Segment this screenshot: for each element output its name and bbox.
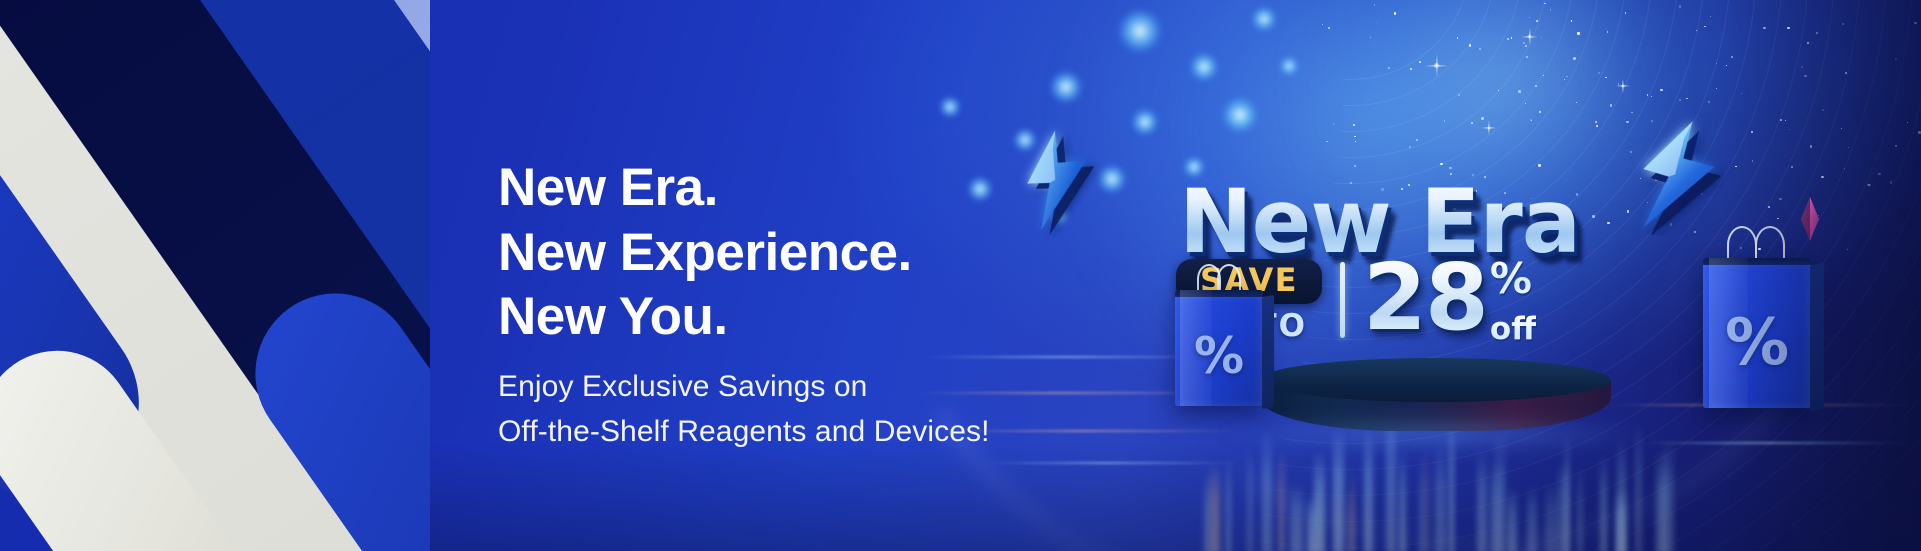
star bbox=[1804, 75, 1806, 77]
bag-percent-symbol: % bbox=[1703, 306, 1811, 380]
star bbox=[1394, 12, 1397, 15]
star bbox=[1625, 12, 1627, 14]
shopping-bag-icon: % bbox=[1175, 290, 1263, 406]
star bbox=[1867, 184, 1869, 186]
star-sparkle bbox=[1527, 34, 1532, 39]
percent-symbol: % bbox=[1490, 258, 1532, 300]
promo-artwork-stage: New Era % bbox=[921, 0, 1921, 551]
star bbox=[1821, 176, 1824, 179]
star bbox=[1536, 20, 1538, 22]
promotional-banner: New Era % bbox=[0, 0, 1921, 551]
star bbox=[1550, 9, 1551, 10]
bokeh-orb bbox=[1279, 56, 1299, 76]
light-ray bbox=[1226, 456, 1231, 551]
star bbox=[1573, 57, 1576, 60]
star bbox=[1353, 124, 1355, 126]
star bbox=[1791, 166, 1793, 168]
star bbox=[1845, 72, 1847, 74]
light-ray bbox=[1545, 482, 1559, 551]
bokeh-orb bbox=[1251, 6, 1277, 32]
star bbox=[1354, 136, 1356, 138]
diamond-sparkle-icon bbox=[1793, 196, 1827, 242]
discount-group: 28 % off bbox=[1363, 258, 1536, 345]
star bbox=[1328, 27, 1330, 29]
star bbox=[1696, 30, 1697, 31]
percent-off-group: % off bbox=[1490, 258, 1536, 345]
star bbox=[1529, 17, 1530, 18]
headline-line-2: New Experience. bbox=[498, 221, 990, 286]
star bbox=[1419, 61, 1421, 63]
podium-top bbox=[1259, 358, 1611, 402]
star bbox=[1610, 104, 1613, 107]
star bbox=[1564, 79, 1565, 80]
star bbox=[1518, 90, 1521, 93]
star bbox=[1708, 101, 1710, 103]
podium-glow bbox=[1219, 414, 1649, 454]
light-ray bbox=[1350, 468, 1355, 551]
star bbox=[1458, 94, 1460, 96]
star bbox=[1326, 141, 1328, 143]
star bbox=[1914, 22, 1916, 24]
star bbox=[1377, 22, 1378, 23]
light-ray bbox=[1423, 445, 1430, 551]
star bbox=[1777, 218, 1778, 219]
bag-side-panel bbox=[1810, 263, 1824, 412]
shopping-bag-icon: % bbox=[1703, 258, 1811, 408]
light-ray bbox=[1477, 450, 1487, 551]
bokeh-orb bbox=[1221, 96, 1259, 134]
star bbox=[1842, 23, 1844, 25]
banner-copy: New Era. New Experience. New You. Enjoy … bbox=[498, 156, 990, 453]
star bbox=[1787, 27, 1790, 30]
star bbox=[1752, 160, 1754, 162]
light-ray bbox=[1663, 438, 1674, 551]
star bbox=[1679, 5, 1682, 8]
light-ray bbox=[1209, 463, 1220, 551]
star bbox=[1440, 163, 1442, 165]
star bbox=[1710, 16, 1711, 17]
star bbox=[1716, 63, 1717, 64]
star bbox=[1481, 117, 1483, 119]
bag-body: % bbox=[1175, 290, 1263, 406]
star bbox=[1535, 85, 1537, 87]
star bbox=[1780, 119, 1782, 121]
off-label: off bbox=[1490, 314, 1536, 345]
star bbox=[1751, 131, 1753, 133]
star bbox=[1355, 141, 1356, 142]
star bbox=[1577, 32, 1579, 34]
bokeh-orb bbox=[1189, 52, 1219, 82]
star bbox=[1686, 98, 1688, 100]
light-ray bbox=[1435, 442, 1446, 551]
star bbox=[1895, 145, 1897, 147]
headline-line-3: New You. bbox=[498, 285, 990, 350]
star bbox=[1498, 90, 1499, 91]
star bbox=[1841, 128, 1842, 129]
star bbox=[1596, 125, 1598, 127]
headline-line-1: New Era. bbox=[498, 156, 990, 221]
discount-value: 28 bbox=[1363, 258, 1487, 337]
light-ray bbox=[1577, 466, 1582, 551]
bag-side-panel bbox=[1262, 295, 1274, 409]
light-ray bbox=[1527, 486, 1537, 551]
left-geometric-decoration bbox=[0, 0, 430, 551]
star bbox=[1333, 123, 1334, 124]
light-ray bbox=[1247, 446, 1253, 551]
podium-icon bbox=[1259, 358, 1611, 444]
light-ray bbox=[1600, 454, 1607, 551]
subcopy-line-1: Enjoy Exclusive Savings on bbox=[498, 366, 990, 409]
light-ray bbox=[1507, 487, 1517, 551]
star bbox=[1847, 249, 1848, 250]
star bbox=[1878, 173, 1880, 175]
lightning-bolt-icon bbox=[1613, 105, 1745, 246]
bokeh-orb bbox=[1117, 8, 1163, 54]
star bbox=[1370, 37, 1371, 38]
star-sparkle bbox=[1433, 62, 1440, 69]
star bbox=[1890, 181, 1893, 184]
light-ray bbox=[1617, 439, 1626, 551]
star bbox=[1539, 111, 1541, 113]
bokeh-orb bbox=[1131, 108, 1159, 136]
subcopy-line-2: Off-the-Shelf Reagents and Devices! bbox=[498, 411, 990, 454]
star bbox=[1566, 76, 1567, 77]
star-sparkle bbox=[1621, 84, 1625, 88]
offer-divider bbox=[1340, 262, 1345, 338]
star bbox=[1525, 103, 1526, 104]
light-ray bbox=[1290, 483, 1303, 551]
lightning-bolt-icon bbox=[992, 107, 1134, 249]
light-ray bbox=[1399, 450, 1406, 551]
star bbox=[1810, 145, 1812, 147]
star bbox=[1592, 215, 1595, 218]
star-sparkle bbox=[1487, 126, 1491, 130]
star bbox=[1538, 164, 1540, 166]
star bbox=[1607, 222, 1609, 224]
star bbox=[1544, 3, 1545, 4]
light-ray bbox=[1278, 449, 1285, 551]
bag-body: % bbox=[1703, 258, 1811, 408]
bag-percent-symbol: % bbox=[1175, 327, 1263, 385]
light-ray bbox=[1314, 450, 1325, 551]
bokeh-orb bbox=[939, 96, 961, 118]
bokeh-orb bbox=[1049, 70, 1083, 104]
